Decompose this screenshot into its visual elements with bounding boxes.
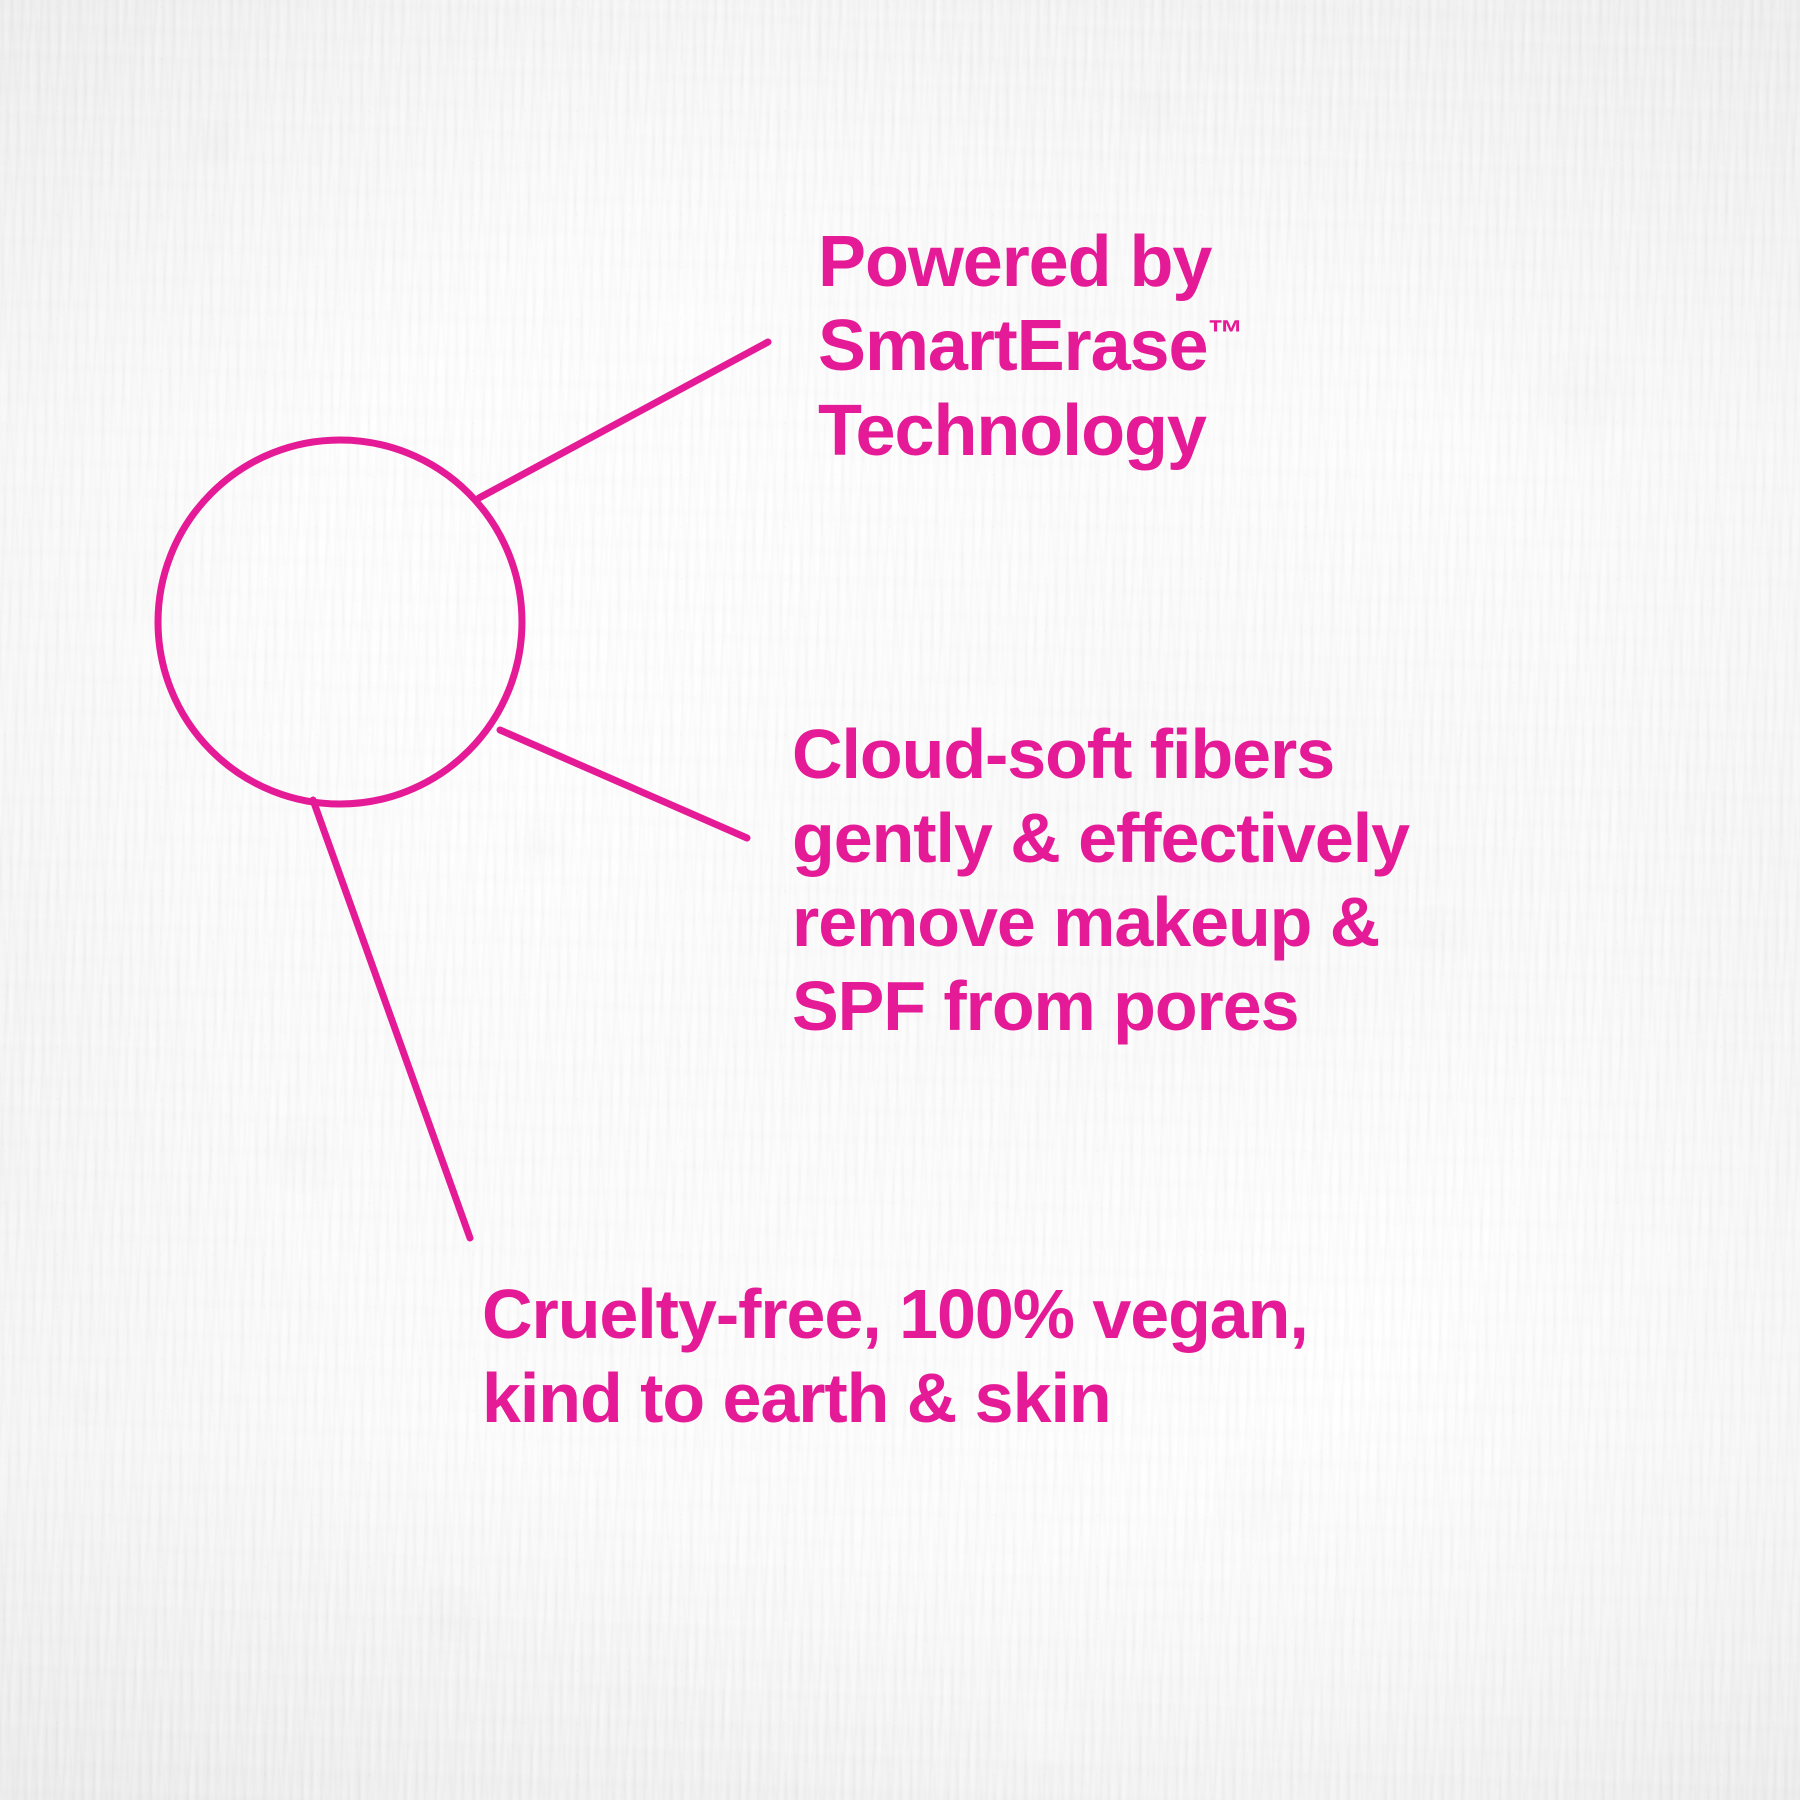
product-feature-poster: Powered by SmartErase™ Technology Cloud-… [0,0,1800,1800]
callout-diagram-artwork [0,0,1800,1800]
leader-line-fibers [500,730,747,838]
zoom-circle [158,440,522,804]
leader-line-smarterase [479,342,768,498]
leader-line-cruelty [313,800,470,1238]
